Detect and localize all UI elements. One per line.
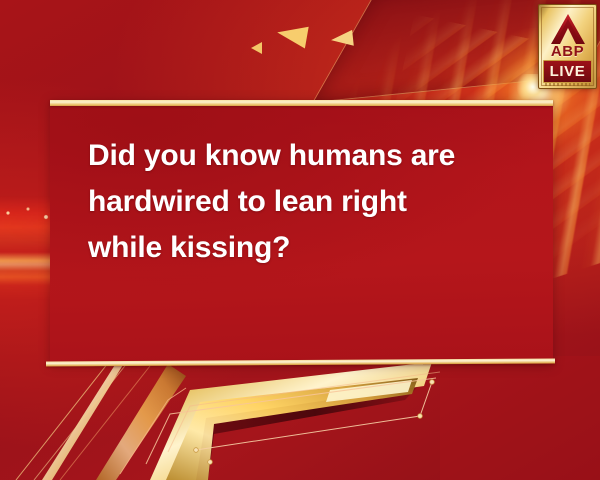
gold-chevron-arrows-icon — [0, 356, 600, 480]
logo-live-badge: LIVE — [543, 60, 592, 83]
headline-text: Did you know humans are hardwired to lea… — [88, 133, 518, 271]
card-top-gold-bar — [50, 100, 553, 106]
abp-live-news-card: Did you know humans are hardwired to lea… — [0, 0, 600, 480]
gold-triangle-small-icon — [251, 42, 262, 54]
logo-footer-pattern — [545, 83, 590, 86]
gold-triangle-medium-icon — [330, 30, 354, 48]
abp-live-logo[interactable]: ABP LIVE — [538, 4, 597, 89]
logo-abp-text: ABP — [539, 43, 596, 60]
